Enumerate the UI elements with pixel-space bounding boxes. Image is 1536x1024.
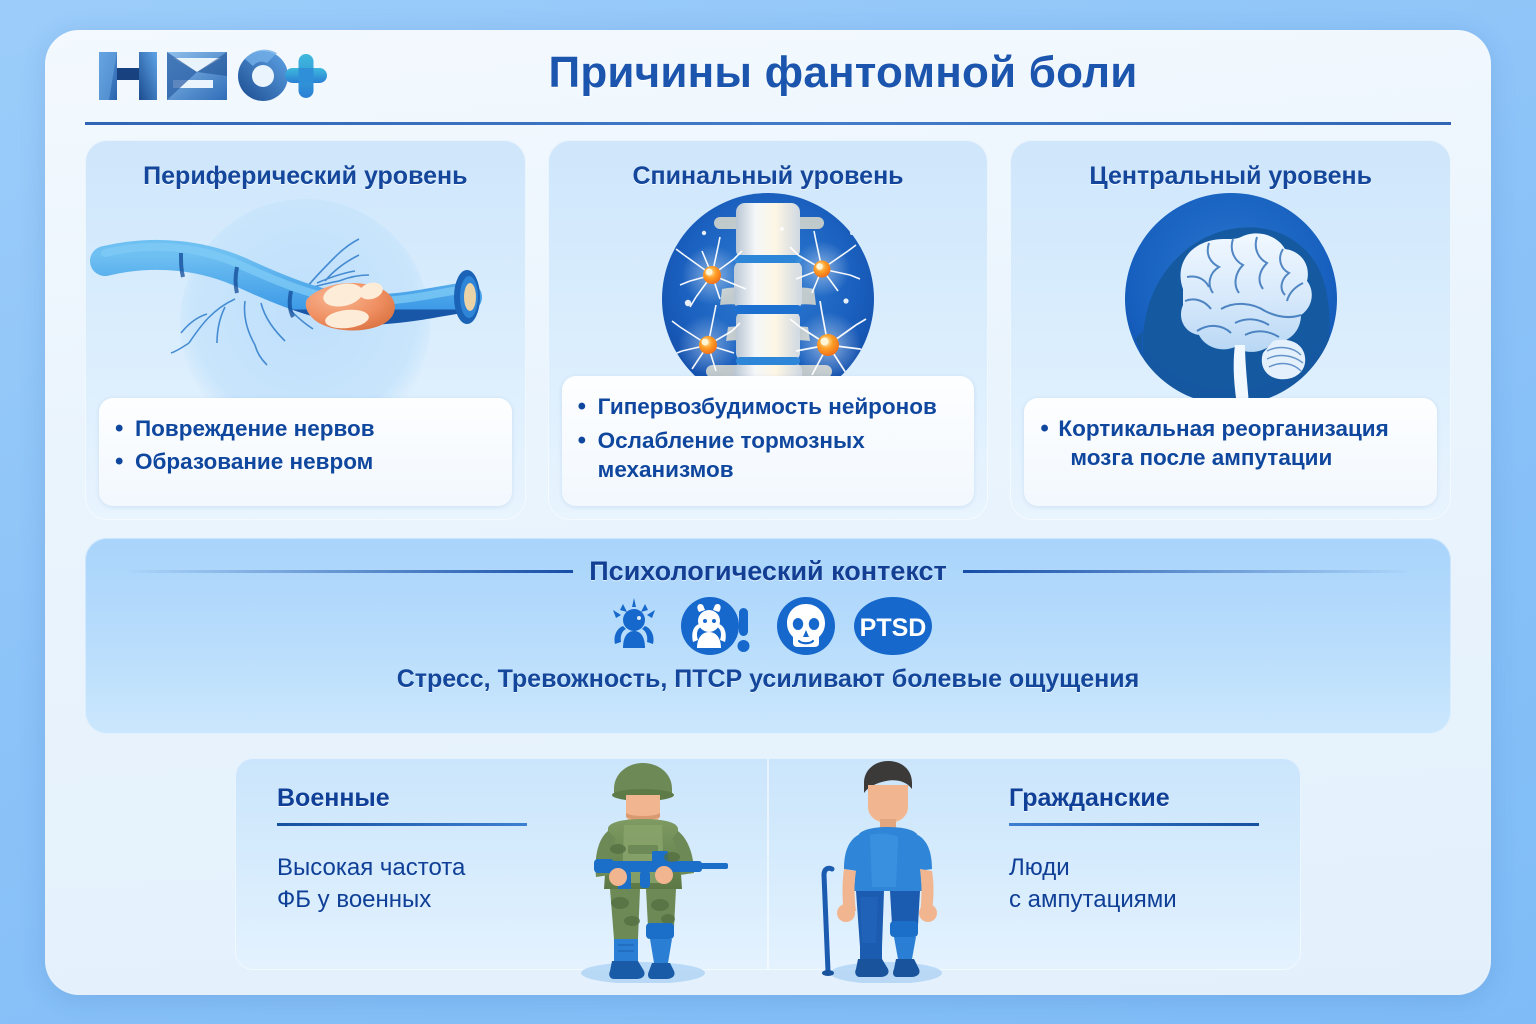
- bullet-item: Образование невром: [113, 447, 498, 476]
- level-card-central: Центральный уровень: [1010, 140, 1451, 520]
- stressed-person-icon: [603, 596, 665, 656]
- group-description-civilian: Люди с ампутациями: [1009, 852, 1259, 917]
- infographic-poster: НЕО+ Причины фантомной боли Периферическ…: [45, 30, 1491, 995]
- brain-head-silhouette-illustration: [1010, 191, 1451, 387]
- bullet-item: Ослабление тормозных механизмов: [576, 426, 961, 485]
- population-groups-row: Военные Высокая частота ФБ у военных: [235, 758, 1301, 970]
- psychological-context-title: Психологический контекст: [589, 556, 946, 587]
- psychological-context-note: Стресс, Тревожность, ПТСР усиливают боле…: [85, 665, 1451, 694]
- bullet-item: Кортикальная реорганизация мозга после а…: [1038, 414, 1423, 473]
- levels-row: Периферический уровень: [85, 140, 1451, 520]
- level-title-central: Центральный уровень: [1010, 162, 1451, 191]
- page-title: Причины фантомной боли: [45, 48, 1491, 98]
- level-bullets-peripheral: Повреждение нервов Образование невром: [99, 398, 512, 506]
- header-rule-right: [963, 570, 1413, 573]
- header-rule-left: [123, 570, 573, 573]
- psychological-context-header: Психологический контекст: [85, 538, 1451, 587]
- level-title-peripheral: Периферический уровень: [85, 162, 526, 191]
- civilian-with-cane-and-prosthetic-leg-figure: [798, 757, 968, 988]
- bullet-line-1: Ослабление тормозных: [598, 428, 865, 453]
- exclamation-mark: [738, 608, 750, 652]
- level-card-peripheral: Периферический уровень: [85, 140, 526, 520]
- ptsd-badge-label: PTSD: [860, 614, 927, 642]
- group-title-military: Военные: [277, 784, 527, 813]
- psychological-icons-row: PTSD: [85, 595, 1451, 657]
- psychological-context-panel: Психологический контекст: [85, 538, 1451, 734]
- bullet-line-2: мозга после ампутации: [1058, 443, 1423, 472]
- ptsd-badge-icon: PTSD: [853, 596, 933, 656]
- desc-line-2: ФБ у военных: [277, 884, 527, 916]
- damaged-nerve-neuroma-illustration: [85, 191, 526, 387]
- desc-line-1: Люди: [1009, 852, 1259, 884]
- level-bullets-central: Кортикальная реорганизация мозга после а…: [1024, 398, 1437, 506]
- bullet-line-1: Кортикальная реорганизация: [1058, 416, 1388, 441]
- bullet-line-2: механизмов: [598, 455, 961, 484]
- group-divider: [277, 823, 527, 826]
- desc-line-2: с ампутациями: [1009, 884, 1259, 916]
- soldier-with-prosthetic-leg-figure: [548, 757, 738, 988]
- group-text-civilian: Гражданские Люди с ампутациями: [1009, 784, 1259, 916]
- group-divider: [1009, 823, 1259, 826]
- spinal-cord-neurons-illustration: [548, 191, 989, 387]
- group-card-civilian: Гражданские Люди с ампутациями: [768, 758, 1301, 970]
- group-title-civilian: Гражданские: [1009, 784, 1259, 813]
- header-divider: [85, 122, 1451, 125]
- level-title-spinal: Спинальный уровень: [548, 162, 989, 191]
- level-card-spinal: Спинальный уровень: [548, 140, 989, 520]
- bullet-item: Повреждение нервов: [113, 414, 498, 443]
- group-description-military: Высокая частота ФБ у военных: [277, 852, 527, 917]
- anxious-person-exclamation-icon: [681, 596, 759, 656]
- desc-line-1: Высокая частота: [277, 852, 527, 884]
- skull-icon: [775, 596, 837, 656]
- bullet-item: Гипервозбудимость нейронов: [576, 392, 961, 421]
- poster-header: НЕО+ Причины фантомной боли: [45, 30, 1491, 122]
- level-bullets-spinal: Гипервозбудимость нейронов Ослабление то…: [562, 376, 975, 506]
- group-text-military: Военные Высокая частота ФБ у военных: [277, 784, 527, 916]
- group-card-military: Военные Высокая частота ФБ у военных: [235, 758, 768, 970]
